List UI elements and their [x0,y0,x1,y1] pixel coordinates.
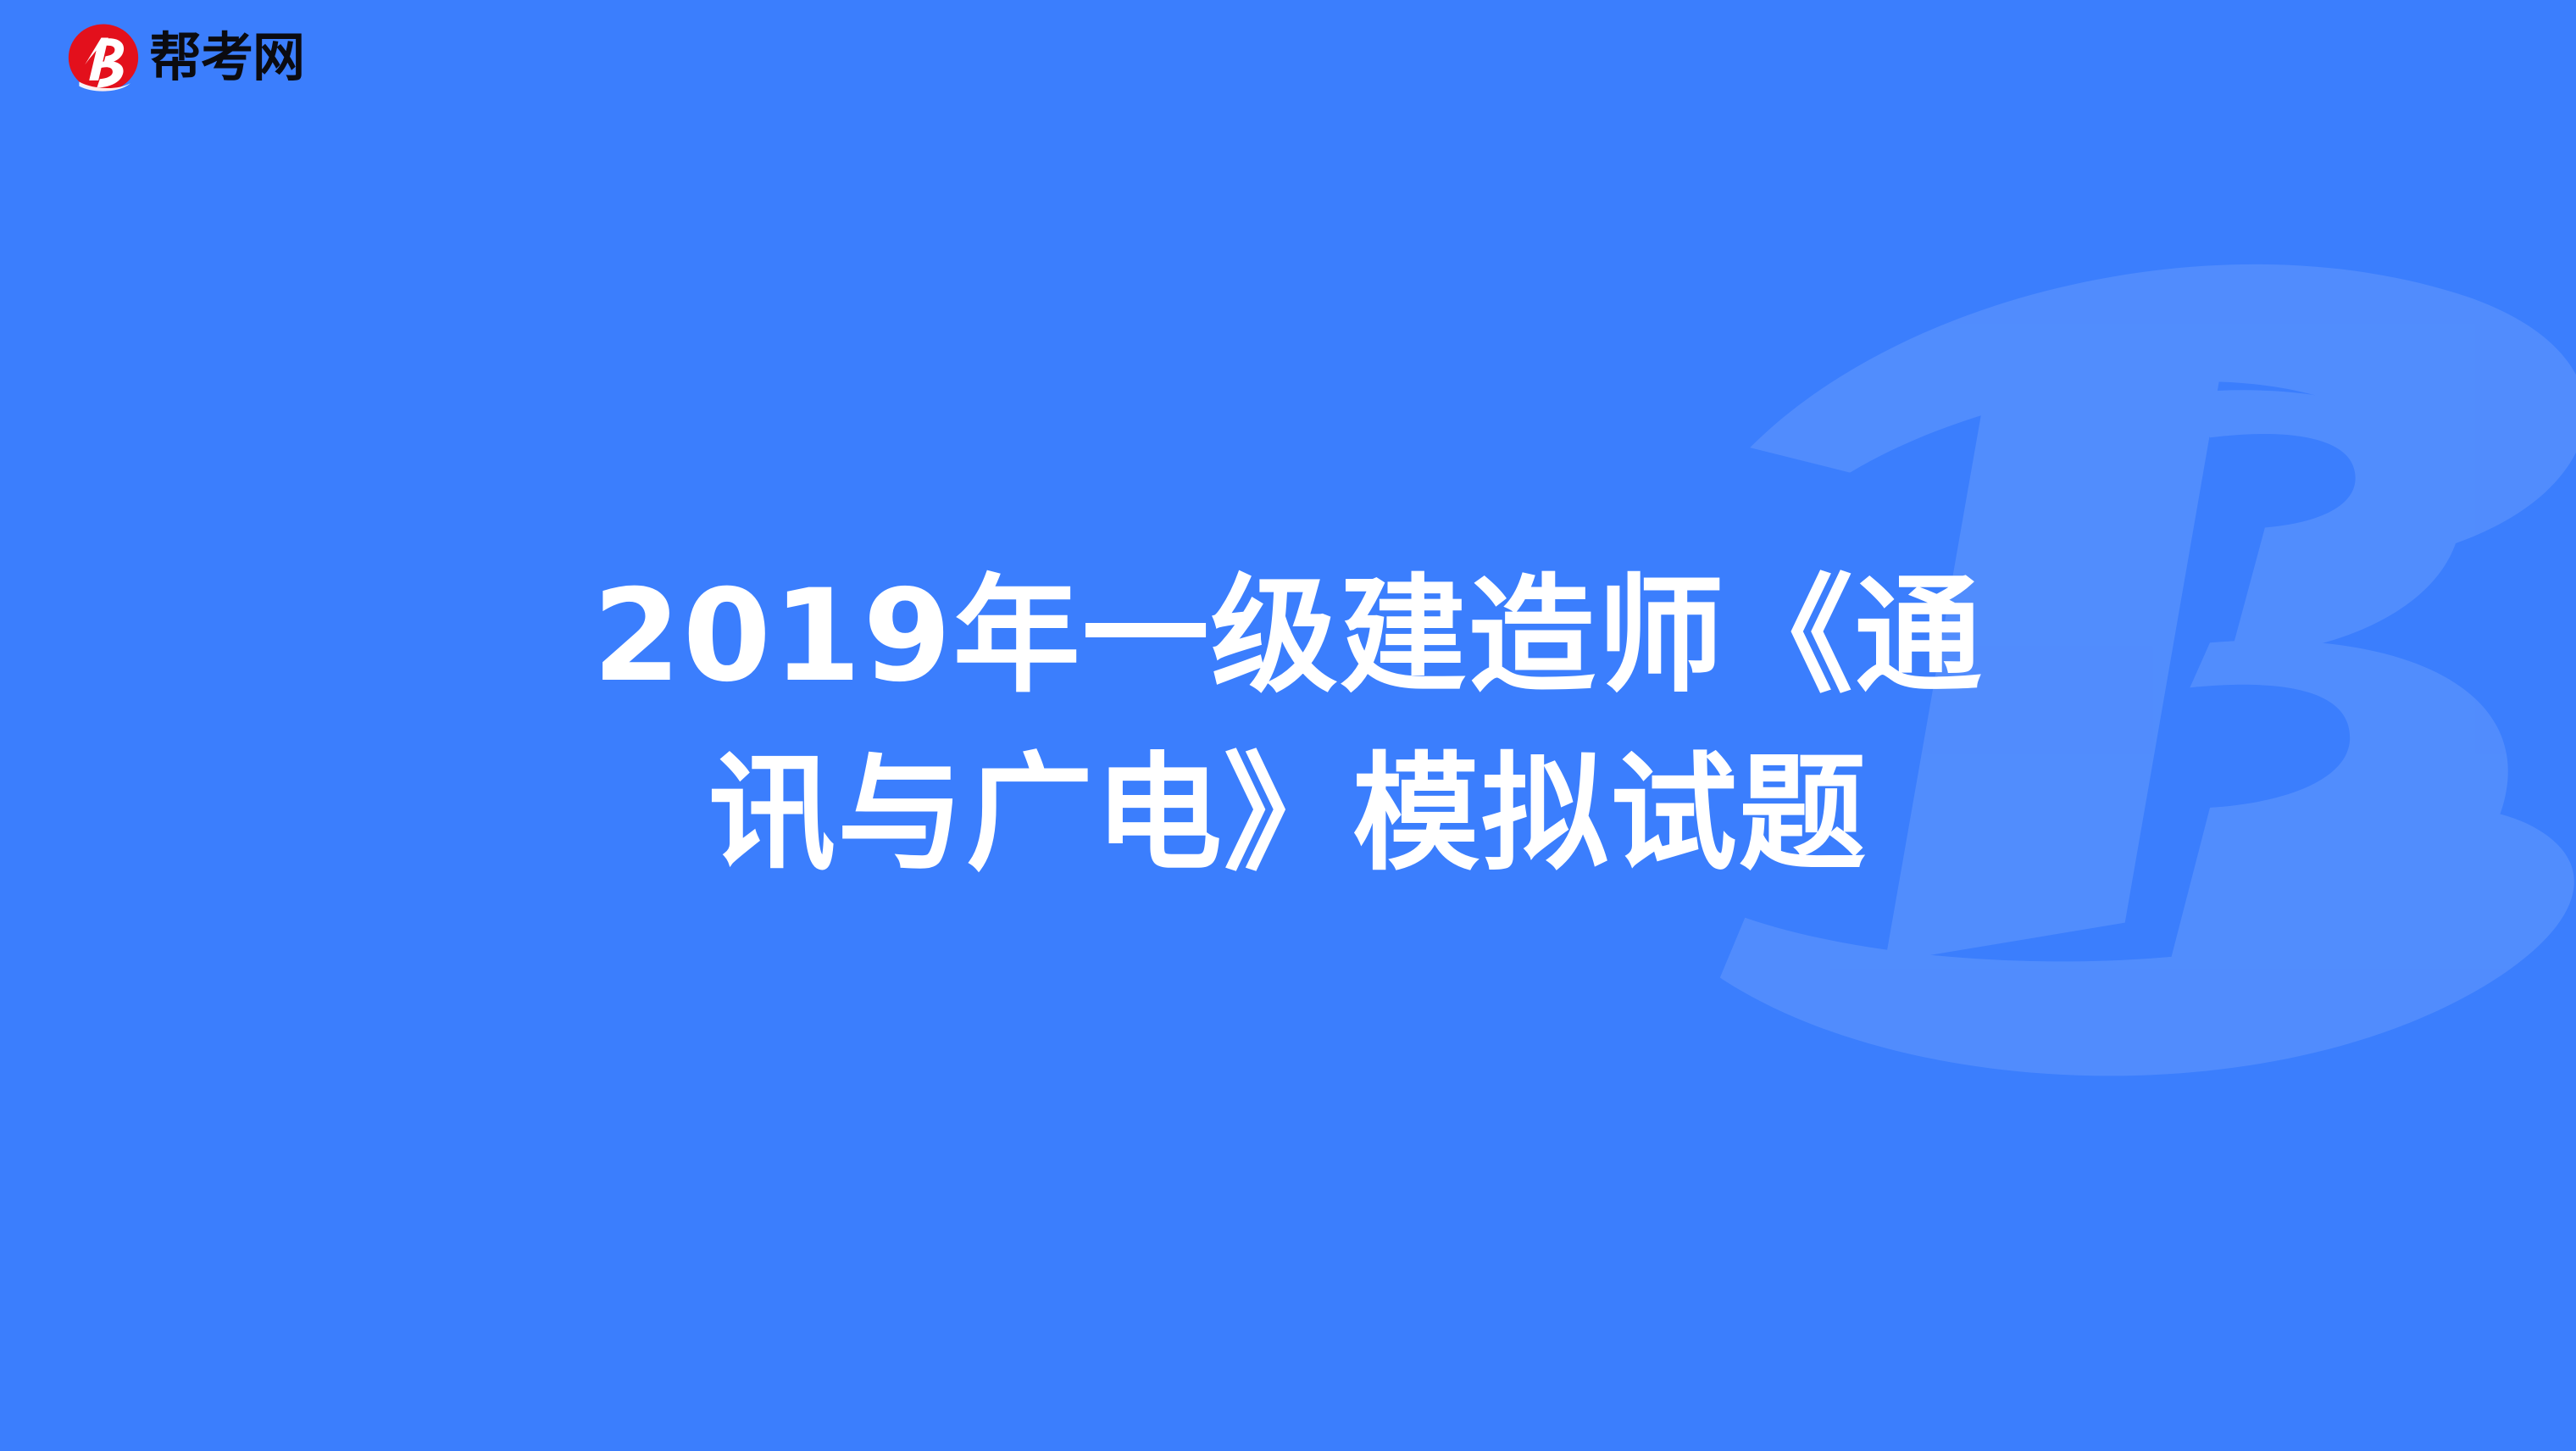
page-title: 2019年一级建造师《通讯与广电》模拟试题 [559,548,2017,903]
banner-canvas: 帮考网 2019年一级建造师《通讯与广电》模拟试题 [0,0,2576,1451]
hero-block: 2019年一级建造师《通讯与广电》模拟试题 [0,0,2576,1451]
